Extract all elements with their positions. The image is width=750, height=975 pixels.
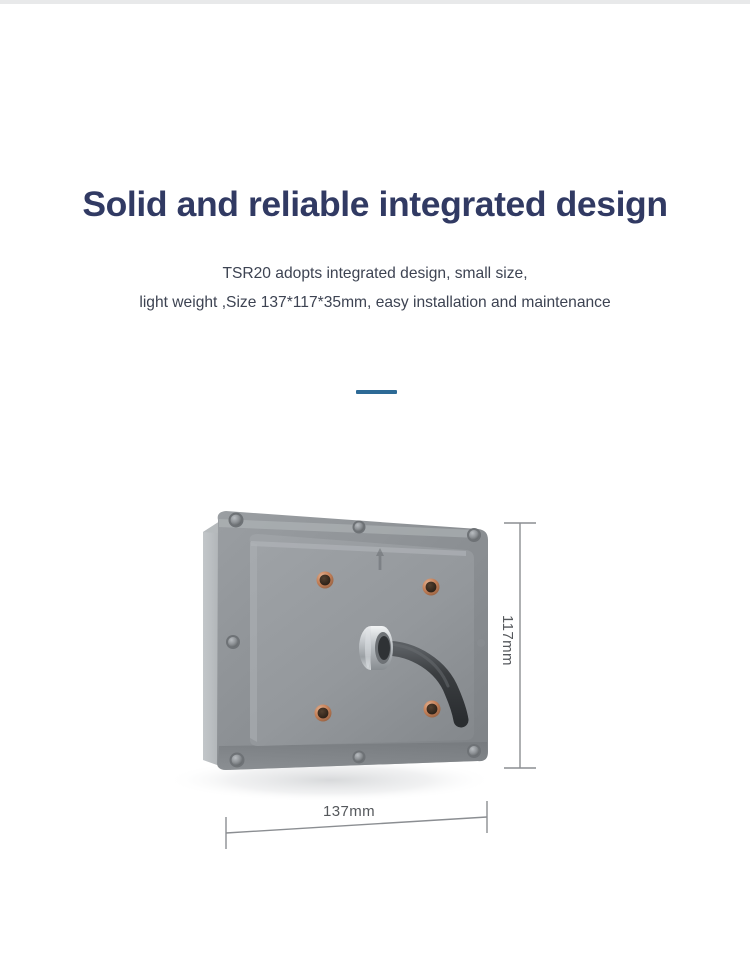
mounting-hole-top-right bbox=[423, 579, 440, 596]
screw-left-middle bbox=[226, 635, 240, 649]
screw-top-center bbox=[353, 521, 366, 534]
product-feature-page: Solid and reliable integrated design TSR… bbox=[0, 0, 750, 975]
screw-bottom-left bbox=[230, 753, 245, 768]
mounting-hole-bottom-left bbox=[315, 705, 332, 722]
dimension-label-width: 137mm bbox=[323, 803, 375, 820]
screw-top-right bbox=[467, 528, 481, 542]
subtitle-line-2: light weight ,Size 137*117*35mm, easy in… bbox=[0, 288, 750, 317]
mounting-hole-bottom-right bbox=[424, 701, 441, 718]
page-subtitle: TSR20 adopts integrated design, small si… bbox=[0, 259, 750, 317]
page-title: Solid and reliable integrated design bbox=[0, 184, 750, 226]
cable-gland bbox=[359, 626, 393, 670]
screw-bottom-center bbox=[353, 751, 366, 764]
dimension-label-height: 117mm bbox=[499, 615, 516, 666]
top-divider-strip bbox=[0, 0, 750, 4]
mounting-hole-top-left bbox=[317, 572, 334, 589]
faceplate-left-shade bbox=[250, 542, 257, 742]
screw-right-middle bbox=[477, 639, 485, 647]
section-divider bbox=[356, 390, 397, 394]
screw-top-left bbox=[229, 513, 244, 528]
screw-bottom-right bbox=[467, 744, 481, 758]
subtitle-line-1: TSR20 adopts integrated design, small si… bbox=[222, 265, 527, 282]
